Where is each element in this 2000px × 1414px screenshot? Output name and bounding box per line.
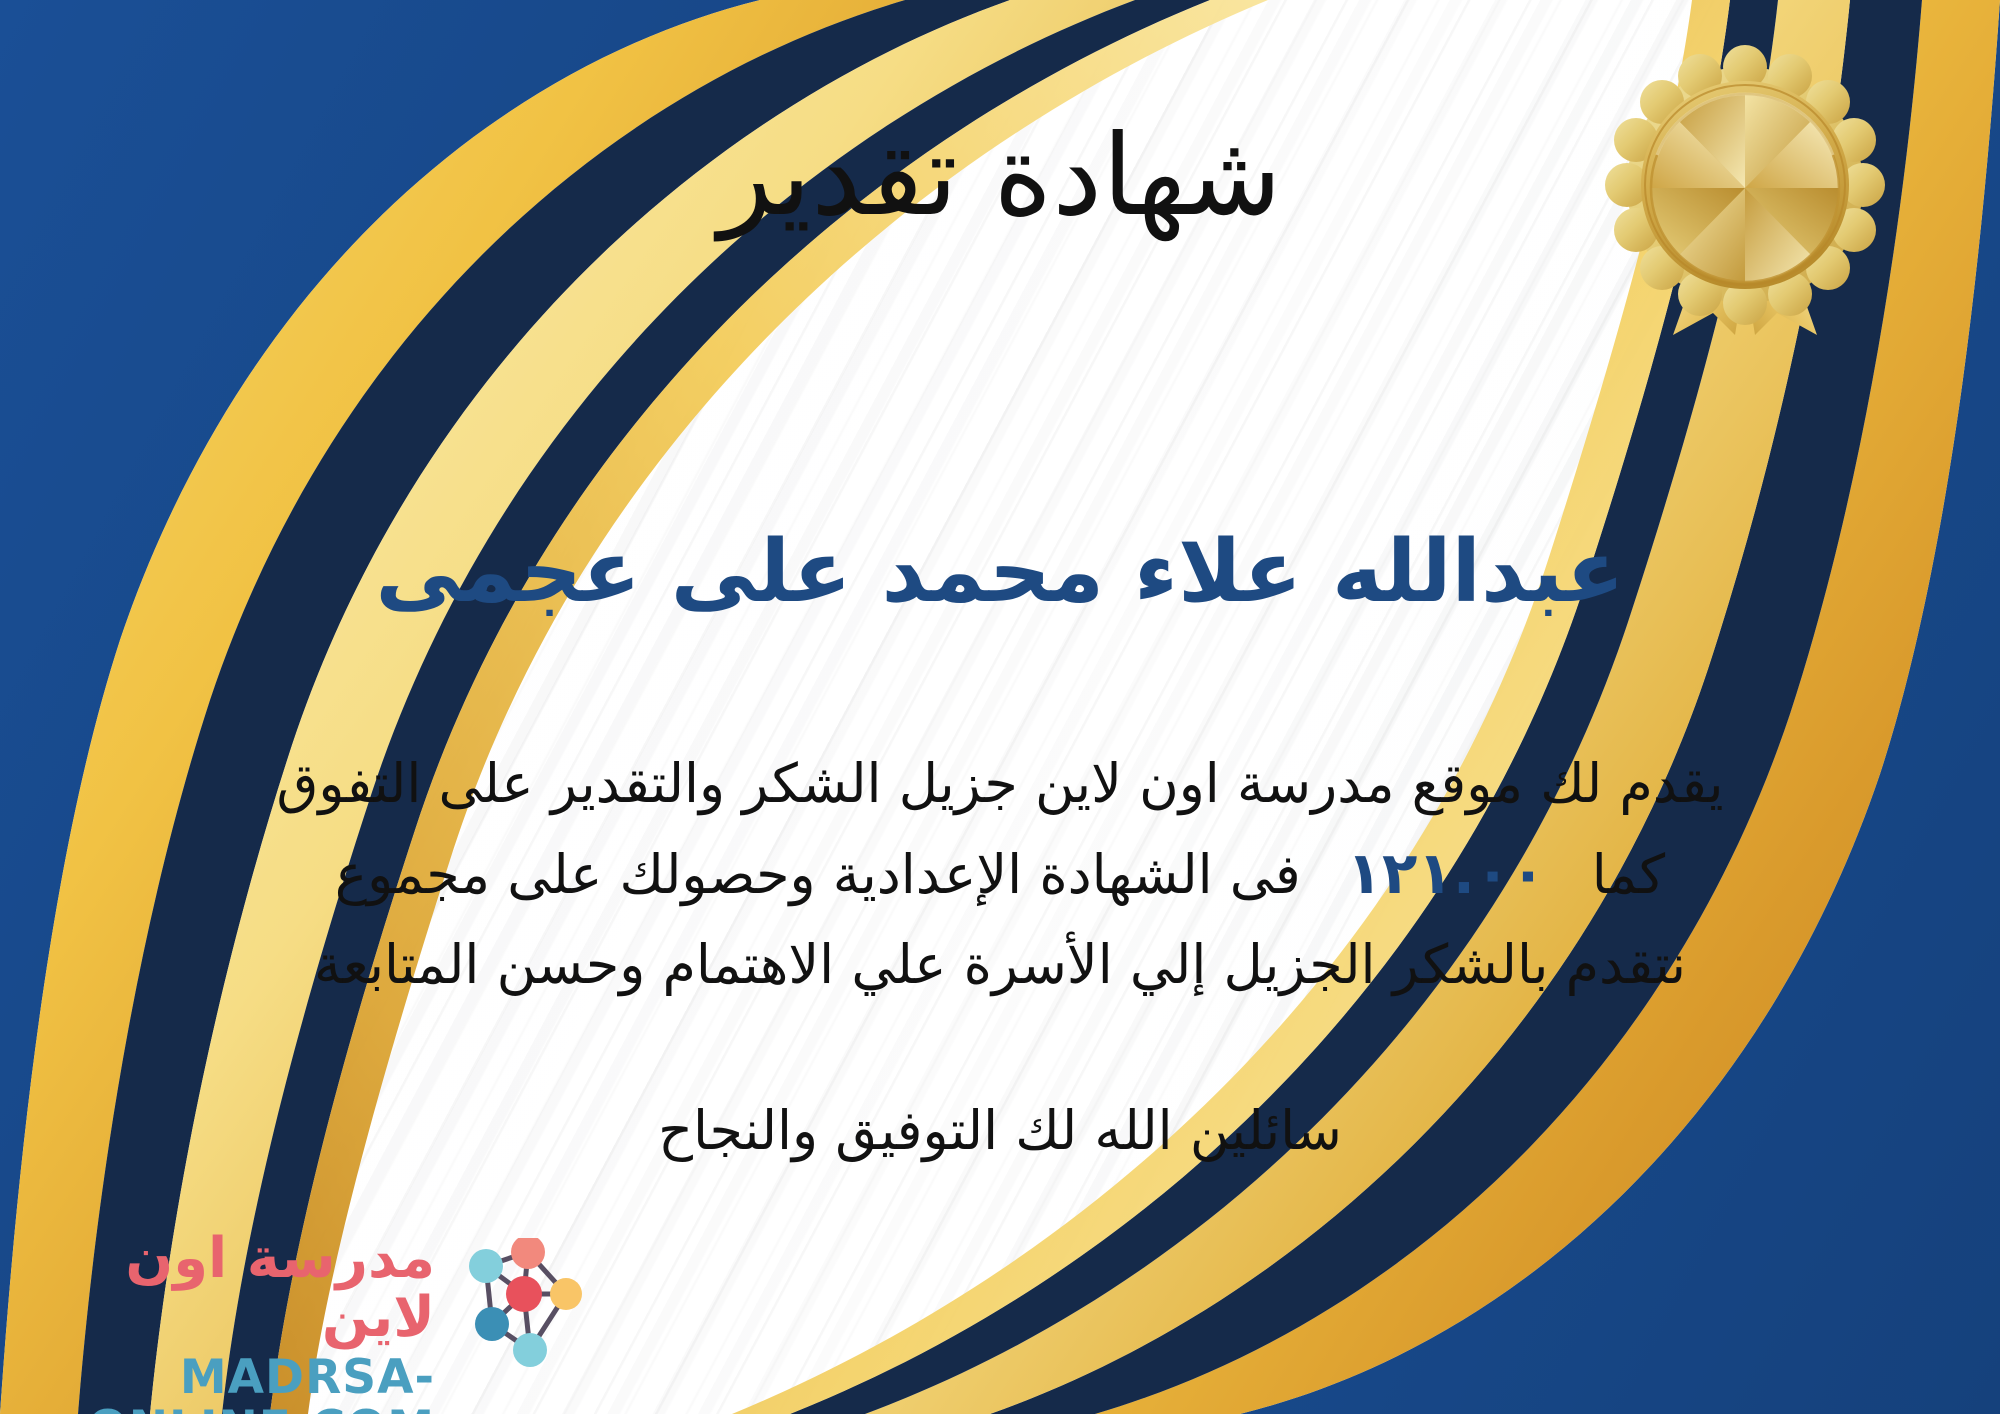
recipient-name: عبدالله علاء محمد على عجمى [0, 525, 2000, 620]
body-line-2-after-score: كما [1592, 843, 1665, 906]
brand-logo-text: مدرسة اون لاين MADRSA-ONLINE.COM [35, 1230, 435, 1414]
certificate-content: شهادة تقدير عبدالله علاء محمد على عجمى ي… [0, 0, 2000, 1414]
network-nodes-icon [440, 1238, 590, 1378]
score-value: ١٢١.٠٠ [1301, 827, 1592, 921]
certificate-body: يقدم لك موقع مدرسة اون لاين جزيل الشكر و… [60, 740, 1940, 1009]
brand-website: MADRSA-ONLINE.COM [35, 1352, 435, 1414]
brand-name-arabic: مدرسة اون لاين [35, 1230, 435, 1348]
certificate-canvas: شهادة تقدير عبدالله علاء محمد على عجمى ي… [0, 0, 2000, 1414]
body-line-3: نتقدم بالشكر الجزيل إلي الأسرة علي الاهت… [60, 921, 1940, 1008]
body-line-2-before-score: فى الشهادة الإعدادية وحصولك على مجموع [335, 843, 1301, 906]
brand-logo[interactable]: مدرسة اون لاين MADRSA-ONLINE.COM [30, 1224, 590, 1394]
body-line-2: كما١٢١.٠٠فى الشهادة الإعدادية وحصولك على… [60, 827, 1940, 921]
closing-line: سائلين الله لك التوفيق والنجاح [0, 1090, 2000, 1171]
body-line-1: يقدم لك موقع مدرسة اون لاين جزيل الشكر و… [60, 740, 1940, 827]
certificate-title: شهادة تقدير [0, 118, 2000, 236]
